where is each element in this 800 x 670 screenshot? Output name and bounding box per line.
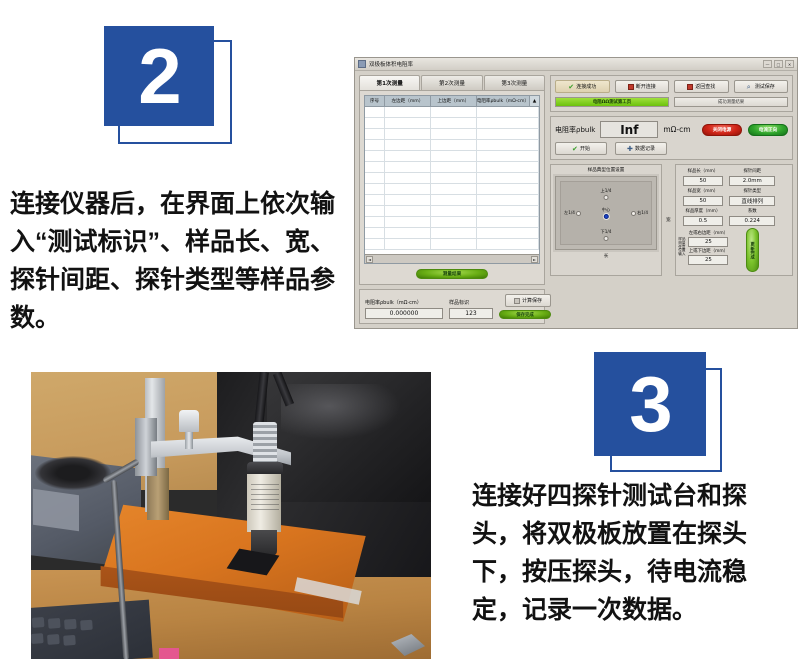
table-cell[interactable]	[431, 129, 477, 139]
record-data-label: 数据记录	[635, 145, 655, 152]
start-measurement-label: 开始	[580, 145, 590, 152]
measurement-tabs: 第1次测量 第2次测量 第3次测量	[359, 75, 545, 90]
sample-position-selector[interactable]: 上1/4 左1/4 中心 右1/4	[553, 174, 659, 252]
table-cell[interactable]	[477, 239, 539, 249]
record-data-button[interactable]: ✚ 数据记录	[615, 142, 667, 155]
table-cell[interactable]	[365, 184, 385, 194]
tab-measurement-1[interactable]: 第1次测量	[359, 75, 420, 90]
edge-side-note: 样品测量任意位置输入	[677, 238, 686, 257]
position-option-right-label: 右1/4	[637, 210, 648, 216]
table-cell[interactable]	[477, 118, 539, 128]
left-right-margin-input[interactable]: 25	[688, 237, 728, 247]
sample-position-group: 样品典型位置设置 上1/4 左1/4 中心	[550, 164, 662, 276]
connect-success-button[interactable]: ✔ 连接成功	[555, 80, 610, 93]
sample-length-label: 样品长（mm）	[688, 168, 719, 174]
axis-label-length: 长	[553, 253, 659, 259]
table-row[interactable]	[365, 228, 539, 239]
coefficient-label: 系数	[748, 208, 757, 214]
measurement-software-window: 双极板体积电阻率 — □ ✕ 第1次测量 第2次测量 第3次测量 序号 左边距（…	[354, 57, 798, 329]
table-cell[interactable]	[477, 206, 539, 216]
photo-coiled-cable	[35, 456, 111, 490]
tab-measurement-3[interactable]: 第3次测量	[484, 75, 545, 90]
photo-laptop-trackpad	[33, 489, 79, 531]
photo-pink-tag	[159, 648, 179, 659]
table-cell[interactable]	[477, 129, 539, 139]
table-cell[interactable]	[431, 107, 477, 117]
table-cell[interactable]	[431, 140, 477, 150]
close-button[interactable]: ✕	[785, 60, 794, 68]
position-option-top-radio[interactable]	[604, 195, 609, 200]
status-bar-row: 电阻ΩΩ测试第工页 成功测量结果	[555, 97, 788, 107]
position-option-bottom-radio[interactable]	[604, 236, 609, 241]
table-cell[interactable]	[365, 151, 385, 161]
table-cell[interactable]	[365, 107, 385, 117]
sample-width-input[interactable]: 50	[683, 196, 723, 206]
table-cell[interactable]	[385, 118, 431, 128]
table-cell[interactable]	[365, 239, 385, 249]
table-cell[interactable]	[385, 184, 431, 194]
step-2-badge: 2	[104, 26, 234, 144]
table-cell[interactable]	[385, 129, 431, 139]
table-cell[interactable]	[477, 173, 539, 183]
check-icon-start: ✔	[572, 146, 578, 152]
probe-type-label: 探针类型	[743, 188, 761, 194]
bulk-resistivity-value: 0.000000	[365, 308, 443, 319]
step-3-badge: 3	[594, 352, 724, 474]
column-header-left-margin: 左边距（mm）	[385, 96, 431, 106]
table-cell[interactable]	[477, 107, 539, 117]
column-header-top-margin: 上边距（mm）	[431, 96, 477, 106]
four-point-probe-stand-photo	[31, 372, 431, 659]
table-cell[interactable]	[385, 217, 431, 227]
sample-position-title: 样品典型位置设置	[553, 167, 659, 173]
status-bar-active[interactable]: 电阻ΩΩ测试第工页	[555, 97, 669, 107]
sample-parameters-group: 样品长（mm） 50 样品宽（mm） 50 样品厚度（mm） 0.5 样品测量任…	[675, 164, 793, 276]
table-cell[interactable]	[431, 239, 477, 249]
column-header-resistivity: 电阻率ρbulk（mΩ-cm）	[477, 96, 530, 106]
probe-spacing-label: 探针间距	[743, 168, 761, 174]
table-cell[interactable]	[431, 217, 477, 227]
table-row[interactable]	[365, 129, 539, 140]
step-3-number: 3	[594, 352, 706, 456]
minimize-button[interactable]: —	[763, 60, 772, 68]
app-icon	[358, 60, 366, 68]
position-option-right[interactable]: 右1/4	[631, 210, 648, 216]
table-cell[interactable]	[385, 107, 431, 117]
table-cell[interactable]	[365, 195, 385, 205]
position-option-center-radio[interactable]	[603, 214, 608, 219]
position-option-top-label: 上1/4	[601, 188, 612, 194]
power-status-indicator[interactable]: 关闭电源	[702, 124, 742, 136]
start-measurement-button[interactable]: ✔ 开始	[555, 142, 607, 155]
position-option-left[interactable]: 左1/4	[564, 210, 581, 216]
table-cell[interactable]	[477, 228, 539, 238]
table-cell[interactable]	[431, 228, 477, 238]
disconnect-label: 断开连接	[636, 83, 656, 90]
table-cell[interactable]	[365, 129, 385, 139]
position-option-bottom-label: 下1/4	[601, 229, 612, 235]
table-row[interactable]	[365, 107, 539, 118]
photo-probe-connector	[253, 422, 277, 464]
column-header-index: 序号	[365, 96, 385, 106]
sample-setup-area: 样品典型位置设置 上1/4 左1/4 中心	[550, 164, 793, 276]
position-option-center-label: 中心	[602, 207, 610, 213]
photo-clamp-knob	[179, 410, 199, 432]
save-icon	[514, 298, 520, 304]
results-grid-footer: ◄ ►	[365, 254, 539, 263]
table-cell[interactable]	[385, 239, 431, 249]
position-option-bottom[interactable]: 下1/4	[601, 229, 612, 241]
step-2-number: 2	[104, 26, 214, 126]
position-option-top[interactable]: 上1/4	[601, 188, 612, 200]
table-cell[interactable]	[431, 173, 477, 183]
connection-button-row: ✔ 连接成功 断开连接 返回查找 ⌕ 测试保存	[555, 80, 788, 93]
table-row[interactable]	[365, 140, 539, 151]
return-query-button[interactable]: 返回查找	[674, 80, 729, 93]
table-row[interactable]	[365, 195, 539, 206]
position-option-left-radio[interactable]	[576, 211, 581, 216]
table-cell[interactable]	[365, 228, 385, 238]
calculate-save-button[interactable]: 计算保存	[505, 294, 551, 307]
test-save-button[interactable]: ⌕ 测试保存	[734, 80, 789, 93]
grid-scroll-right-button[interactable]: ►	[531, 256, 538, 263]
sample-id-field: 样品标识 123	[449, 299, 493, 319]
table-row[interactable]	[365, 184, 539, 195]
photo-monitor-glint	[281, 384, 401, 440]
measurement-tab-panel: 序号 左边距（mm） 上边距（mm） 电阻率ρbulk（mΩ-cm） ▲ ◄ ►…	[359, 90, 545, 285]
table-cell[interactable]	[365, 173, 385, 183]
table-cell[interactable]	[385, 206, 431, 216]
table-cell[interactable]	[431, 195, 477, 205]
resistivity-readout-unit: mΩ-cm	[663, 125, 690, 134]
position-option-center[interactable]: 中心	[602, 207, 610, 219]
sample-id-label: 样品标识	[449, 299, 493, 306]
window-titlebar: 双极板体积电阻率 — □ ✕	[355, 58, 797, 71]
step-2-caption: 连接仪器后，在界面上依次输入“测试标识”、样品长、宽、探针间距、探针类型等样品参…	[10, 185, 350, 337]
probe-type-select[interactable]: 直线排列	[729, 196, 775, 206]
tab-measurement-2[interactable]: 第2次测量	[421, 75, 482, 90]
table-cell[interactable]	[477, 184, 539, 194]
table-row[interactable]	[365, 217, 539, 228]
disconnect-button[interactable]: 断开连接	[615, 80, 670, 93]
edge-margin-block: 样品测量任意位置输入 左或右边距（mm） 25 上或下边距（mm） 25	[677, 230, 728, 265]
update-complete-button[interactable]: 更新完成	[746, 228, 759, 272]
table-cell[interactable]	[385, 173, 431, 183]
sample-dimension-column: 样品长（mm） 50 样品宽（mm） 50 样品厚度（mm） 0.5 样品测量任…	[679, 168, 728, 272]
status-bar-inactive[interactable]: 成功测量结果	[674, 97, 788, 107]
connection-toolbar-group: ✔ 连接成功 断开连接 返回查找 ⌕ 测试保存	[550, 75, 793, 112]
current-direction-indicator[interactable]: 电流正向	[748, 124, 788, 136]
table-cell[interactable]	[431, 206, 477, 216]
results-grid[interactable]: 序号 左边距（mm） 上边距（mm） 电阻率ρbulk（mΩ-cm） ▲ ◄ ►	[364, 95, 540, 264]
grid-scroll-corner[interactable]: ▲	[530, 96, 539, 106]
measurement-records-panel: 第1次测量 第2次测量 第3次测量 序号 左边距（mm） 上边距（mm） 电阻率…	[359, 75, 545, 324]
table-row[interactable]	[365, 118, 539, 129]
window-controls: — □ ✕	[763, 60, 794, 68]
bulk-resistivity-field: 电阻率ρbulk（mΩ·cm） 0.000000	[365, 299, 443, 319]
probe-spacing-input[interactable]: 2.0mm	[729, 176, 775, 186]
photo-keyboard	[31, 600, 153, 659]
check-icon: ✔	[568, 84, 574, 90]
position-option-left-label: 左1/4	[564, 210, 575, 216]
window-body: 第1次测量 第2次测量 第3次测量 序号 左边距（mm） 上边距（mm） 电阻率…	[355, 71, 797, 328]
table-cell[interactable]	[385, 228, 431, 238]
sample-width-label: 样品宽（mm）	[688, 188, 719, 194]
table-cell[interactable]	[477, 162, 539, 172]
result-summary-box: 电阻率ρbulk（mΩ·cm） 0.000000 样品标识 123 计算保存 保…	[359, 289, 545, 324]
measurement-result-pill[interactable]: 测量结果	[416, 269, 488, 279]
probe-parameter-column: 探针间距 2.0mm 探针类型 直线排列 系数 0.224 更新完成	[730, 168, 774, 272]
resistivity-readout-label: 电阻率ρbulk	[555, 125, 595, 135]
resistivity-readout-group: 电阻率ρbulk Inf mΩ-cm 关闭电源 电流正向 ✔ 开始 ✚	[550, 116, 793, 160]
table-cell[interactable]	[365, 206, 385, 216]
maximize-button[interactable]: □	[774, 60, 783, 68]
table-row[interactable]	[365, 162, 539, 173]
connect-success-label: 连接成功	[576, 83, 596, 90]
grid-scroll-left-button[interactable]: ◄	[366, 256, 373, 263]
measurement-action-row: ✔ 开始 ✚ 数据记录	[555, 142, 788, 155]
table-cell[interactable]	[431, 162, 477, 172]
coefficient-input[interactable]: 0.224	[729, 216, 775, 226]
step-3-caption: 连接好四探针测试台和探头，将双极板放置在探头下，按压探头，待电流稳定，记录一次数…	[472, 477, 792, 629]
table-cell[interactable]	[477, 140, 539, 150]
plus-icon: ✚	[627, 146, 633, 152]
bulk-resistivity-label: 电阻率ρbulk（mΩ·cm）	[365, 299, 443, 306]
table-cell[interactable]	[431, 184, 477, 194]
resistivity-readout-value: Inf	[600, 121, 658, 138]
control-panel: ✔ 连接成功 断开连接 返回查找 ⌕ 测试保存	[550, 75, 793, 324]
table-cell[interactable]	[365, 162, 385, 172]
results-grid-header: 序号 左边距（mm） 上边距（mm） 电阻率ρbulk（mΩ-cm） ▲	[365, 96, 539, 107]
table-cell[interactable]	[431, 151, 477, 161]
calculate-save-label: 计算保存	[522, 297, 542, 304]
return-query-label: 返回查找	[695, 83, 715, 90]
position-option-right-radio[interactable]	[631, 211, 636, 216]
photo-probe-label-text	[251, 484, 279, 512]
table-cell[interactable]	[365, 217, 385, 227]
table-cell[interactable]	[385, 151, 431, 161]
left-right-margin-label: 左或右边距（mm）	[689, 230, 728, 236]
sample-thickness-label: 样品厚度（mm）	[685, 208, 720, 214]
table-cell[interactable]	[477, 151, 539, 161]
table-cell[interactable]	[385, 140, 431, 150]
table-cell[interactable]	[365, 140, 385, 150]
results-grid-rows[interactable]	[365, 107, 539, 254]
test-save-label: 测试保存	[755, 83, 775, 90]
sample-length-input[interactable]: 50	[683, 176, 723, 186]
top-bottom-margin-input[interactable]: 25	[688, 255, 728, 265]
table-row[interactable]	[365, 206, 539, 217]
table-row[interactable]	[365, 173, 539, 184]
table-row[interactable]	[365, 151, 539, 162]
table-cell[interactable]	[477, 195, 539, 205]
top-bottom-margin-label: 上或下边距（mm）	[689, 248, 728, 254]
table-cell[interactable]	[385, 195, 431, 205]
table-cell[interactable]	[385, 162, 431, 172]
table-cell[interactable]	[365, 118, 385, 128]
search-icon: ⌕	[747, 84, 753, 90]
sample-thickness-input[interactable]: 0.5	[683, 216, 723, 226]
resistivity-readout-row: 电阻率ρbulk Inf mΩ-cm 关闭电源 电流正向	[555, 121, 788, 138]
window-title: 双极板体积电阻率	[369, 60, 413, 68]
stop-icon	[628, 84, 634, 90]
table-row[interactable]	[365, 239, 539, 250]
save-complete-pill[interactable]: 保存完成	[499, 310, 551, 319]
table-cell[interactable]	[431, 118, 477, 128]
stop-icon-2	[687, 84, 693, 90]
axis-label-width: 宽	[666, 164, 671, 276]
sample-id-input[interactable]: 123	[449, 308, 493, 319]
table-cell[interactable]	[477, 217, 539, 227]
